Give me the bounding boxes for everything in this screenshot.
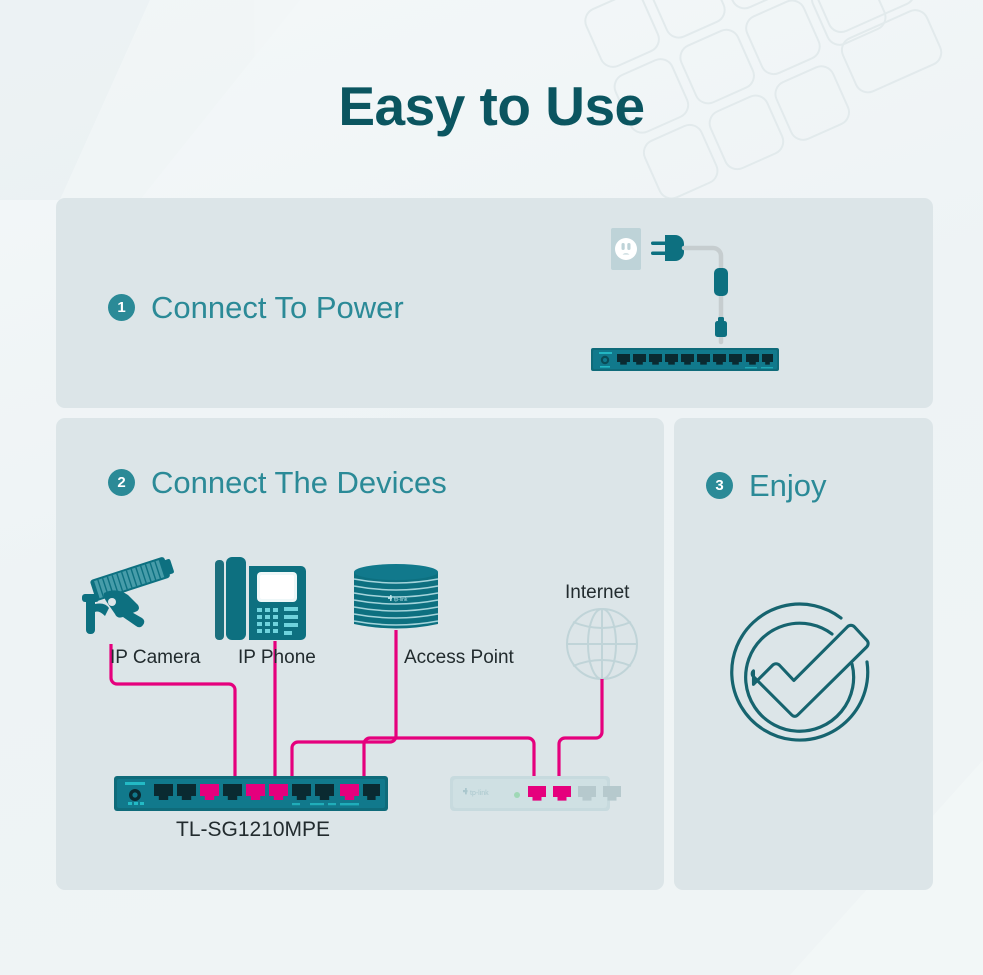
- caption-access-point: Access Point: [404, 647, 514, 669]
- step-3-heading: 3 Enjoy: [706, 470, 827, 501]
- power-plug-icon: [651, 235, 684, 261]
- page-title: Easy to Use: [0, 76, 983, 137]
- step-3-illustration: [722, 592, 892, 767]
- step-3-title: Enjoy: [749, 470, 827, 501]
- caption-internet: Internet: [565, 582, 629, 604]
- caption-ip-phone: IP Phone: [238, 647, 316, 669]
- step-1-illustration: [585, 222, 785, 382]
- step-1-number-badge: 1: [108, 294, 135, 321]
- caption-ip-camera: IP Camera: [110, 647, 200, 669]
- dc-connector-icon: [715, 317, 727, 337]
- network-switch-top: [591, 348, 779, 371]
- wall-outlet-icon: [611, 228, 641, 270]
- power-adapter-icon: [714, 268, 728, 296]
- step-2-number-badge: 2: [108, 469, 135, 496]
- step-3-number-badge: 3: [706, 472, 733, 499]
- step-2-heading: 2 Connect The Devices: [108, 467, 447, 498]
- caption-switch-model: TL-SG1210MPE: [176, 818, 330, 842]
- circle-check-icon: [732, 604, 868, 740]
- step-1-title: Connect To Power: [151, 292, 404, 323]
- step-1-heading: 1 Connect To Power: [108, 292, 404, 323]
- step-2-title: Connect The Devices: [151, 467, 447, 498]
